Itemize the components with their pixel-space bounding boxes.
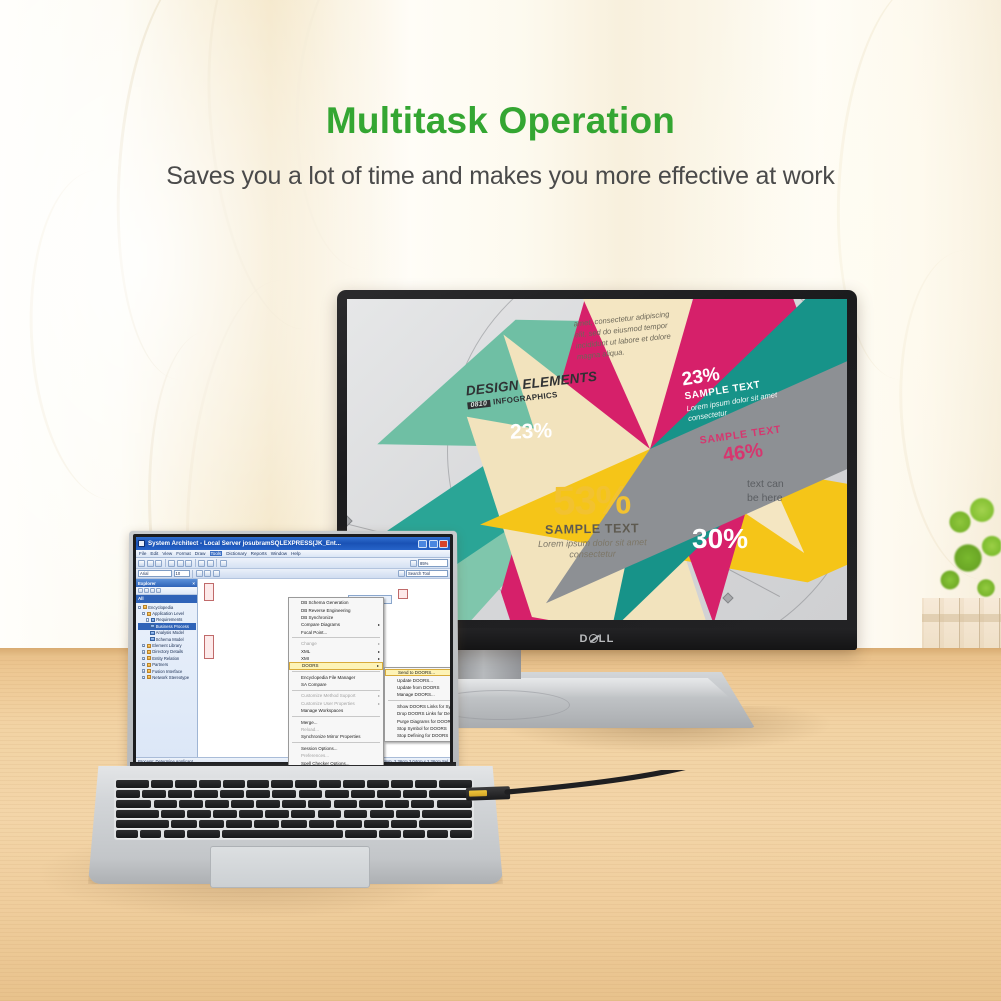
menu-item[interactable]: Compare Diagrams▸	[289, 621, 383, 628]
key[interactable]	[391, 780, 413, 788]
key[interactable]	[377, 790, 401, 798]
diagram-node[interactable]	[398, 589, 408, 599]
key[interactable]	[213, 810, 237, 818]
key[interactable]	[318, 810, 342, 818]
tree-label: Directory Details	[152, 649, 183, 654]
key[interactable]	[415, 780, 437, 788]
key[interactable]	[223, 780, 245, 788]
submenu-arrow-icon: ▸	[377, 663, 379, 668]
search-icon[interactable]	[398, 570, 405, 577]
submenu-arrow-icon: ▸	[378, 641, 380, 646]
diagram-node[interactable]	[204, 583, 214, 601]
key[interactable]	[291, 810, 315, 818]
key[interactable]	[370, 810, 394, 818]
key[interactable]	[187, 810, 211, 818]
laptop-screen: System Architect - Local Server josubram…	[133, 534, 453, 768]
keyboard-row-space[interactable]	[116, 830, 472, 838]
key[interactable]	[199, 780, 221, 788]
explorer-caption: Explorer ×	[136, 579, 197, 587]
key[interactable]	[256, 800, 280, 808]
keyboard-row-shift[interactable]	[116, 820, 472, 828]
key[interactable]	[367, 780, 389, 788]
menu-item[interactable]: DB Schema Generation	[289, 599, 383, 606]
product-scene: Multitask Operation Saves you a lot of t…	[0, 0, 1001, 1001]
key[interactable]	[325, 790, 349, 798]
print-icon[interactable]	[220, 560, 227, 567]
key[interactable]	[391, 820, 416, 828]
tree-label: Partners	[152, 662, 168, 667]
key[interactable]	[295, 780, 317, 788]
submenu-item[interactable]: Update from DOORS	[385, 684, 453, 691]
menu-item[interactable]: XML▸	[289, 647, 383, 654]
key[interactable]	[396, 810, 420, 818]
key[interactable]	[411, 800, 435, 808]
menu-item: Customize User Properties▸	[289, 700, 383, 707]
key[interactable]	[385, 800, 409, 808]
new-icon[interactable]	[138, 560, 145, 567]
key[interactable]	[175, 780, 197, 788]
key[interactable]	[403, 790, 427, 798]
key[interactable]	[142, 790, 166, 798]
key-tab[interactable]	[116, 800, 151, 808]
keyboard-row-function[interactable]	[116, 780, 472, 788]
menu-item[interactable]: DB Reverse Engineering	[289, 606, 383, 613]
menu-item[interactable]: Encyclopedia File Manager	[289, 674, 383, 681]
collapse-icon[interactable]	[150, 588, 155, 593]
key[interactable]	[281, 820, 306, 828]
tree-label: Business Process	[156, 624, 189, 629]
key[interactable]	[116, 790, 140, 798]
pie-chart	[464, 299, 836, 620]
cable-path	[507, 770, 718, 792]
key[interactable]	[271, 780, 293, 788]
tree-item[interactable]: +Network Stereotype	[138, 674, 196, 680]
app-icon	[138, 540, 145, 547]
key[interactable]	[226, 820, 251, 828]
diagram-node[interactable]	[204, 635, 214, 659]
key[interactable]	[171, 820, 196, 828]
save-icon[interactable]	[155, 560, 162, 567]
tree-label: Schema Model	[156, 637, 184, 642]
toolbar-primary[interactable]: 85%	[136, 558, 450, 569]
menu-item[interactable]: Merge...	[289, 718, 383, 725]
keyboard-row-home[interactable]	[116, 810, 472, 818]
key[interactable]	[351, 790, 375, 798]
menu-item[interactable]: XMI▸	[289, 655, 383, 662]
filter-icon[interactable]	[156, 588, 161, 593]
menu-format[interactable]: Format	[176, 551, 191, 556]
refresh-icon[interactable]	[138, 588, 143, 593]
doors-submenu[interactable]: Send to DOORS... Update DOORS... Update …	[384, 667, 453, 742]
submenu-arrow-icon: ▸	[378, 656, 380, 661]
key[interactable]	[199, 820, 224, 828]
menu-item[interactable]: Focal Point...	[289, 629, 383, 636]
tree-label: Encyclopedia	[148, 605, 173, 610]
zoom-in-icon[interactable]	[410, 560, 417, 567]
underline-icon[interactable]	[213, 570, 220, 577]
tree-label: Fusion Interface	[152, 669, 182, 674]
explorer-toolbar[interactable]	[136, 587, 197, 595]
menu-draw[interactable]: Draw	[195, 551, 206, 556]
key[interactable]	[359, 800, 383, 808]
italic-icon[interactable]	[204, 570, 211, 577]
toolbar-format[interactable]: Arial 10 Search Tool	[136, 569, 450, 579]
key[interactable]	[336, 820, 361, 828]
menu-item[interactable]: Session Options...	[289, 745, 383, 752]
font-name-combo[interactable]: Arial	[138, 570, 172, 578]
key[interactable]	[220, 790, 244, 798]
expand-icon[interactable]	[144, 588, 149, 593]
menu-edit[interactable]: Edit	[150, 551, 158, 556]
key[interactable]	[161, 810, 185, 818]
key[interactable]	[239, 810, 263, 818]
menu-item: Reload...	[289, 726, 383, 733]
tree-label: Element Library	[152, 643, 181, 648]
key-cmd-left[interactable]	[187, 830, 219, 838]
key[interactable]	[364, 820, 389, 828]
tree-label: Requirements	[156, 617, 182, 622]
key[interactable]	[343, 780, 365, 788]
key-alt-right[interactable]	[379, 830, 401, 838]
submenu-item[interactable]: Show DOORS Links for Symbols	[385, 703, 453, 710]
submenu-arrow-icon: ▸	[378, 693, 380, 698]
key-shift-left[interactable]	[116, 820, 169, 828]
tools-dropdown-menu[interactable]: DB Schema Generation DB Reverse Engineer…	[288, 597, 384, 768]
key[interactable]	[344, 810, 368, 818]
submenu-item[interactable]: Drop DOORS Links for Definitions	[385, 710, 453, 717]
key-arrow-left[interactable]	[403, 830, 425, 838]
window-title: System Architect - Local Server josubram…	[148, 540, 341, 547]
key-arrow-right[interactable]	[450, 830, 472, 838]
key-space[interactable]	[222, 830, 343, 838]
submenu-arrow-icon: ▸	[378, 649, 380, 654]
submenu-item[interactable]: Send to DOORS...	[385, 669, 453, 676]
submenu-item[interactable]: Stop Symbol for DOORS	[385, 725, 453, 732]
key[interactable]	[246, 790, 270, 798]
submenu-item[interactable]: Manage DOORS...	[385, 691, 453, 698]
paste-icon[interactable]	[185, 560, 192, 567]
key-fn[interactable]	[116, 830, 138, 838]
menu-item: Customize Method Support▸	[289, 692, 383, 699]
key[interactable]	[272, 790, 296, 798]
key[interactable]	[194, 790, 218, 798]
system-architect-window: System Architect - Local Server josubram…	[136, 537, 450, 765]
tree-label: Network Stereotype	[152, 675, 189, 680]
open-icon[interactable]	[147, 560, 154, 567]
redo-icon[interactable]	[207, 560, 214, 567]
key-arrow-updown[interactable]	[427, 830, 449, 838]
menu-item: Change▸	[289, 640, 383, 647]
page-subtitle: Saves you a lot of time and makes you mo…	[0, 162, 1001, 191]
search-input[interactable]: Search Tool	[406, 570, 448, 578]
menu-window[interactable]: Window	[271, 551, 287, 556]
menu-item[interactable]: SA Compare	[289, 681, 383, 688]
menu-dictionary[interactable]: Dictionary	[226, 551, 246, 556]
key[interactable]	[309, 820, 334, 828]
key-ctrl[interactable]	[140, 830, 162, 838]
key[interactable]	[116, 780, 149, 788]
cut-icon[interactable]	[168, 560, 175, 567]
copy-icon[interactable]	[177, 560, 184, 567]
laptop-trackpad[interactable]	[210, 846, 370, 888]
menu-item[interactable]: Synchronize Mirror Properties	[289, 733, 383, 740]
key[interactable]	[179, 800, 203, 808]
key[interactable]	[334, 800, 358, 808]
explorer-all-tab[interactable]: All	[136, 595, 197, 603]
menu-reports[interactable]: Reports	[251, 551, 267, 556]
maximize-button[interactable]	[429, 540, 438, 548]
key[interactable]	[265, 810, 289, 818]
laptop: System Architect - Local Server josubram…	[78, 530, 508, 890]
key[interactable]	[247, 780, 269, 788]
undo-icon[interactable]	[198, 560, 205, 567]
tree-label: Entity Relation	[152, 656, 179, 661]
key[interactable]	[151, 780, 173, 788]
close-button[interactable]	[439, 540, 448, 548]
submenu-item[interactable]: Stop Defining for DOORS	[385, 732, 453, 739]
tree-label: Application Level	[152, 611, 184, 616]
keyboard-row-number[interactable]	[116, 790, 472, 798]
menu-item[interactable]: DB Synchronize	[289, 614, 383, 621]
key[interactable]	[319, 780, 341, 788]
submenu-arrow-icon: ▸	[378, 701, 380, 706]
key[interactable]	[299, 790, 323, 798]
key-capslock[interactable]	[116, 810, 159, 818]
explorer-close-icon[interactable]: ×	[192, 581, 195, 586]
zoom-combo[interactable]: 85%	[418, 559, 448, 567]
keyboard-row-qwerty[interactable]	[116, 800, 472, 808]
window-titlebar: System Architect - Local Server josubram…	[136, 537, 450, 550]
menu-item: Preferences...	[289, 752, 383, 759]
submenu-item[interactable]: Purge Diagrams for DOORS	[385, 717, 453, 724]
menu-item-doors[interactable]: DOORS▸	[289, 662, 383, 669]
key[interactable]	[154, 800, 178, 808]
font-size-combo[interactable]: 10	[174, 570, 190, 578]
explorer-tree[interactable]: -Encyclopedia -Application Level -Requir…	[136, 603, 197, 681]
hdmi-cable	[455, 770, 775, 830]
key[interactable]	[254, 820, 279, 828]
menu-bar[interactable]: File Edit View Format Draw Tools Diction…	[136, 550, 450, 558]
menu-tools[interactable]: Tools	[210, 551, 223, 556]
page-title: Multitask Operation	[0, 100, 1001, 142]
key[interactable]	[231, 800, 255, 808]
key[interactable]	[282, 800, 306, 808]
submenu-item[interactable]: Update DOORS...	[385, 676, 453, 683]
diagram-canvas[interactable]: DB Schema Generation DB Reverse Engineer…	[198, 579, 450, 757]
key-alt[interactable]	[164, 830, 186, 838]
tree-label: Analysis Model	[156, 630, 184, 635]
laptop-keyboard[interactable]	[114, 778, 474, 840]
window-body: Explorer × All -Encyclopedia -Appl	[136, 579, 450, 757]
window-controls[interactable]	[418, 540, 448, 548]
key-cmd-right[interactable]	[345, 830, 377, 838]
explorer-title: Explorer	[138, 581, 156, 586]
menu-item[interactable]: Manage Workspaces	[289, 707, 383, 714]
dell-logo: DLL	[580, 633, 615, 645]
menu-help[interactable]: Help	[291, 551, 300, 556]
key[interactable]	[308, 800, 332, 808]
explorer-panel: Explorer × All -Encyclopedia -Appl	[136, 579, 198, 757]
bold-icon[interactable]	[196, 570, 203, 577]
menu-file[interactable]: File	[139, 551, 146, 556]
submenu-arrow-icon: ▸	[378, 622, 380, 627]
minimize-button[interactable]	[418, 540, 427, 548]
key[interactable]	[168, 790, 192, 798]
key[interactable]	[205, 800, 229, 808]
menu-view[interactable]: View	[162, 551, 172, 556]
